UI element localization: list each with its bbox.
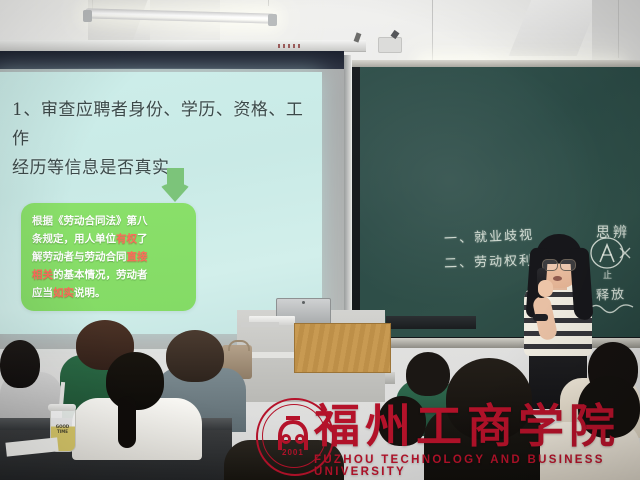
slide-callout-line-1: 根据《劳动合同法》第八 — [32, 212, 187, 230]
student-front-1-ponytail — [118, 396, 136, 448]
wristwatch — [533, 314, 548, 321]
screen-right-edge — [344, 55, 351, 350]
lectern-wood-panel — [294, 323, 391, 373]
student-front-4-body — [224, 440, 344, 480]
slide-callout-text: 根据《劳动合同法》第八条规定，用人单位有权了解劳动者与劳动合同直接相关的基本情况… — [32, 212, 187, 302]
smoke-detector-icon — [378, 37, 402, 53]
slide-callout-line-3: 解劳动者与劳动合同直接 — [32, 248, 187, 266]
student-front-3-head — [578, 376, 640, 438]
drink-cup-lid — [48, 404, 76, 411]
front-desk-dark — [386, 316, 476, 329]
instructor-hand — [538, 280, 553, 297]
light-wire-left-b — [268, 0, 269, 6]
blackboard-top-trim — [352, 60, 640, 67]
student-back-3-head — [0, 340, 40, 388]
down-arrow-icon — [158, 168, 192, 202]
chalk-note-line-2: 二、劳动权利 — [444, 249, 535, 271]
eyeglasses-bridge — [556, 263, 560, 264]
slide-callout-box: 根据《劳动合同法》第八条规定，用人单位有权了解劳动者与劳动合同直接相关的基本情况… — [21, 203, 196, 311]
student-front-2-head — [446, 358, 532, 440]
callout-text-run: 解劳动者与劳动合同 — [32, 251, 127, 263]
slide-callout-line-5: 应当如实说明。 — [32, 284, 187, 302]
callout-highlight: 有权 — [116, 233, 137, 245]
chalk-diagram-label: 止 — [603, 268, 612, 281]
callout-text-run: 说明。 — [74, 287, 106, 299]
student-back-4-head — [406, 352, 450, 396]
callout-text-run: 了 — [137, 233, 148, 245]
callout-text-run: 的基本情况，劳动者 — [53, 269, 148, 281]
ceiling-panel-right — [592, 0, 640, 66]
student-mid-head — [378, 396, 426, 446]
callout-highlight: 直接 — [127, 251, 148, 263]
callout-text-run: 应当 — [32, 287, 53, 299]
projected-slide: 1、审查应聘者身份、学历、资格、工作 经历等信息是否真实 根据《劳动合同法》第八… — [0, 72, 322, 334]
chalk-note-line-1: 一、就业歧视 — [444, 224, 535, 247]
callout-highlight: 如实 — [53, 287, 74, 299]
light-wire-right-a — [432, 0, 433, 62]
lectern-keyboard — [241, 322, 279, 327]
monitor-indicator — [302, 301, 305, 304]
projector-screen-header-band — [0, 51, 344, 69]
callout-text-run: 根据《劳动合同法》第八 — [32, 215, 148, 227]
eyeglasses-right-lens — [560, 259, 576, 271]
instructor-mouth — [553, 276, 562, 281]
slide-heading-line1: 1、审查应聘者身份、学历、资格、工作 — [12, 96, 304, 154]
tube-cap-left — [83, 10, 92, 22]
classroom-photo: 1、审查应聘者身份、学历、资格、工作 经历等信息是否真实 根据《劳动合同法》第八… — [0, 0, 640, 480]
chalk-squiggle-icon — [588, 300, 638, 314]
slide-callout-line-2: 条规定，用人单位有权了 — [32, 230, 187, 248]
callout-text-run: 条规定，用人单位 — [32, 233, 116, 245]
handbag-handle — [228, 340, 250, 351]
callout-highlight: 相关 — [32, 269, 53, 281]
student-back-2-head — [166, 330, 224, 382]
light-wire-right-b — [618, 0, 619, 58]
screen-rail-label — [278, 44, 300, 48]
slide-callout-line-4: 相关的基本情况，劳动者 — [32, 266, 187, 284]
chalk-ledge — [352, 338, 640, 348]
tube-cap-right — [268, 14, 277, 26]
drink-cup-label: GOOD TIME — [52, 424, 73, 434]
